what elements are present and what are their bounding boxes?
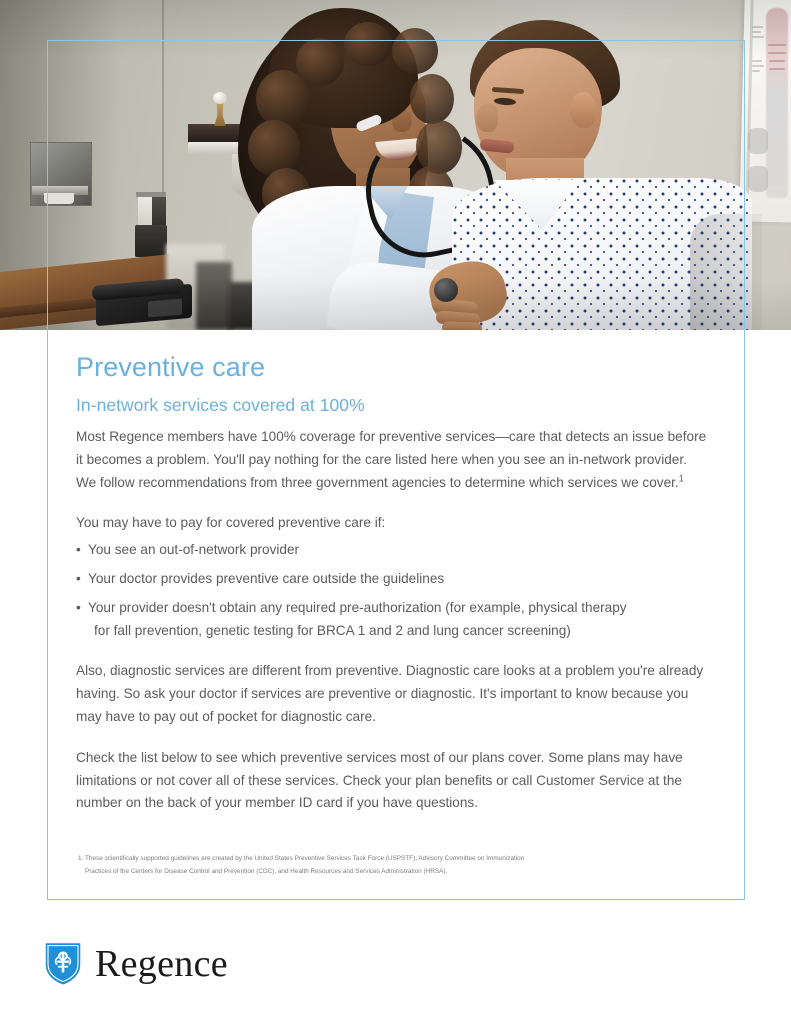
regence-wordmark: Regence bbox=[95, 945, 228, 983]
page-subtitle: In-network services covered at 100% bbox=[76, 395, 708, 416]
page-title: Preventive care bbox=[76, 352, 708, 383]
footnote: 1. These scientifically supported guidel… bbox=[78, 853, 678, 878]
regence-logo: Regence bbox=[44, 941, 228, 986]
intro-paragraph-text: Most Regence members have 100% coverage … bbox=[76, 429, 706, 490]
list-item-text: You see an out-of-network provider bbox=[88, 542, 299, 557]
payment-conditions-list: You see an out-of-network provider Your … bbox=[76, 539, 708, 642]
list-lead-in: You may have to pay for covered preventi… bbox=[76, 512, 708, 535]
blue-cross-shield-icon bbox=[44, 941, 82, 986]
list-item: Your doctor provides preventive care out… bbox=[76, 568, 708, 591]
intro-paragraph: Most Regence members have 100% coverage … bbox=[76, 426, 708, 494]
document-body: Preventive care In-network services cove… bbox=[76, 352, 708, 833]
check-list-paragraph: Check the list below to see which preven… bbox=[76, 747, 708, 815]
page-border-frame-photo-section bbox=[47, 40, 745, 332]
diagnostic-paragraph: Also, diagnostic services are different … bbox=[76, 660, 708, 728]
footnote-line-1: 1. These scientifically supported guidel… bbox=[78, 855, 524, 862]
footnote-marker: 1 bbox=[679, 473, 684, 483]
list-item-text: Your doctor provides preventive care out… bbox=[88, 571, 444, 586]
footnote-line-2: Practices of the Centers for Disease Con… bbox=[78, 866, 678, 879]
list-item-text: Your provider doesn't obtain any require… bbox=[88, 600, 627, 615]
list-item-continuation: for fall prevention, genetic testing for… bbox=[88, 620, 708, 643]
list-item: Your provider doesn't obtain any require… bbox=[76, 597, 708, 643]
list-item: You see an out-of-network provider bbox=[76, 539, 708, 562]
